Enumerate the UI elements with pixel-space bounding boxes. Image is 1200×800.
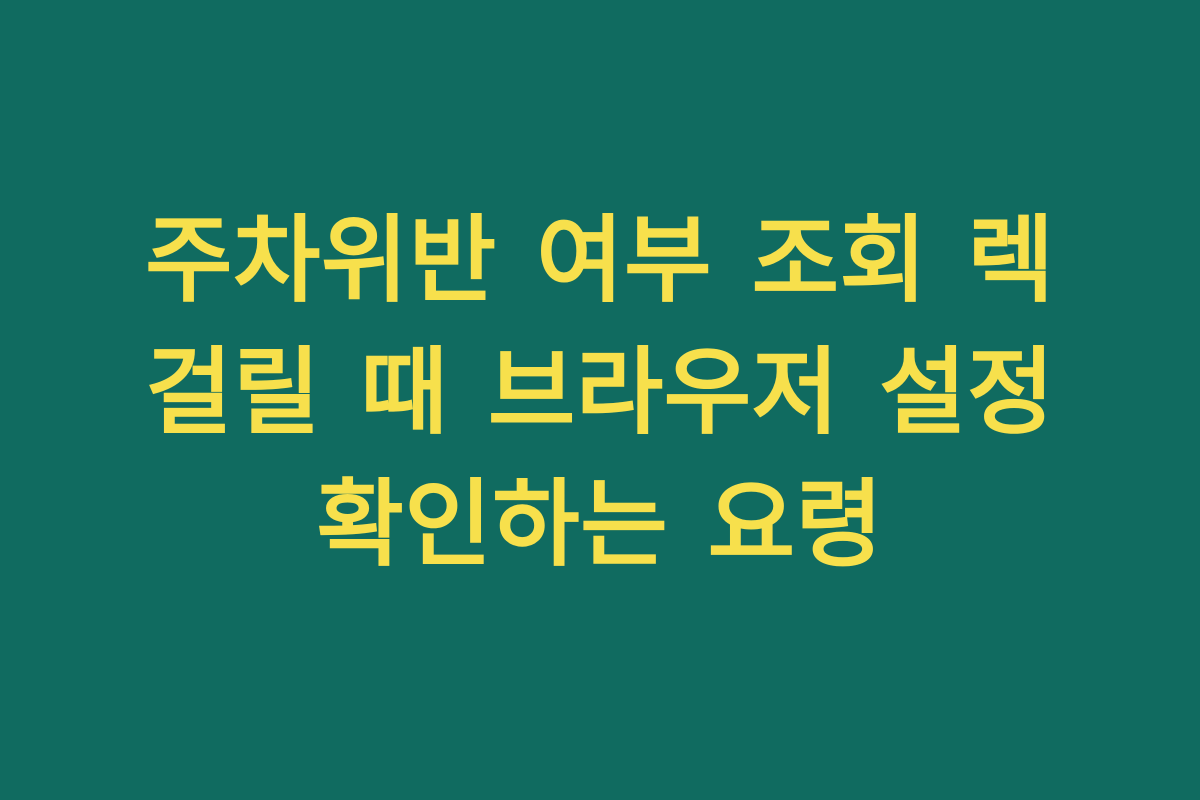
title-card: 주차위반 여부 조회 렉 걸릴 때 브라우저 설정 확인하는 요령 (0, 0, 1200, 800)
headline-line-3: 확인하는 요령 (145, 459, 1055, 591)
headline-line-2: 걸릴 때 브라우저 설정 (145, 327, 1055, 459)
headline-line-1: 주차위반 여부 조회 렉 (145, 195, 1055, 327)
headline: 주차위반 여부 조회 렉 걸릴 때 브라우저 설정 확인하는 요령 (145, 195, 1055, 591)
